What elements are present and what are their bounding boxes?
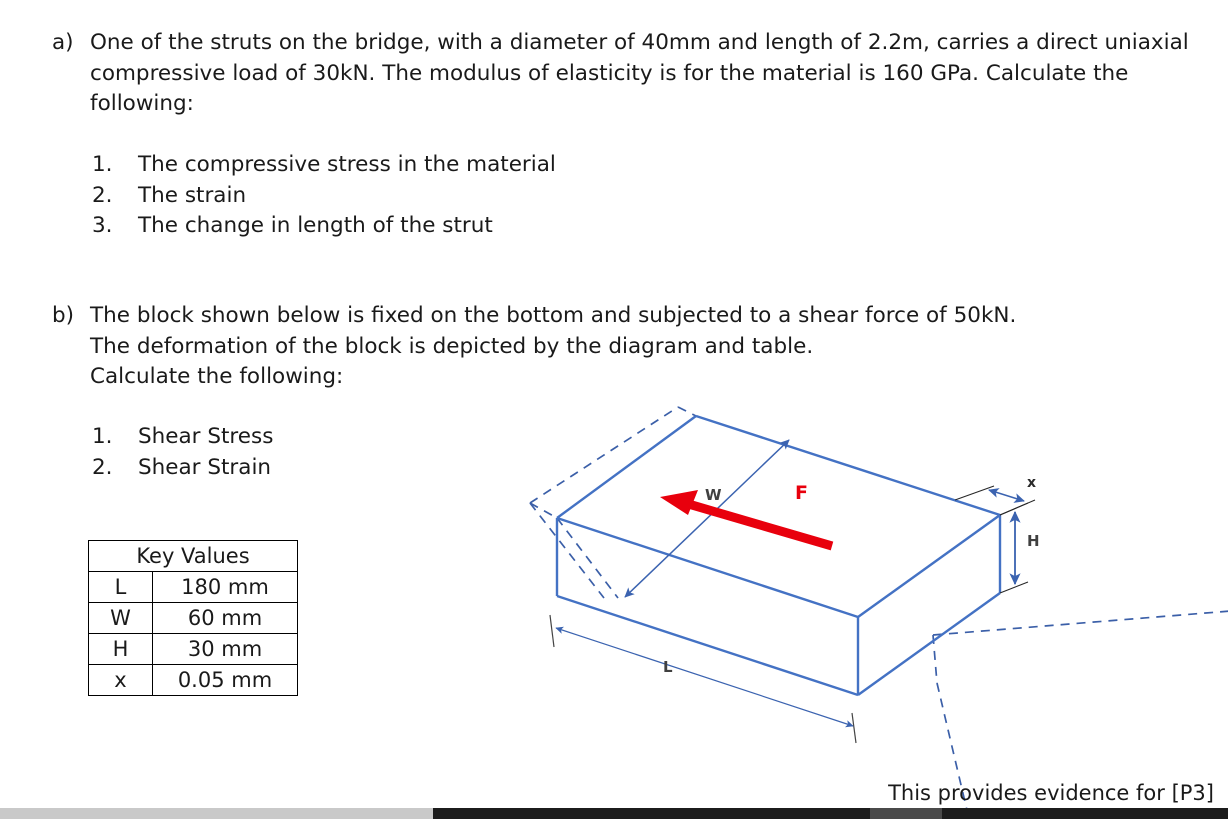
dimension-x-arrow xyxy=(989,490,1024,501)
bottom-os-strip xyxy=(0,808,1228,819)
dashed-hidden-back-top xyxy=(933,598,1228,635)
dashed-top-left-short xyxy=(530,503,557,518)
question-a-block: a) One of the struts on the bridge, with… xyxy=(44,28,1214,120)
dimension-l-label: L xyxy=(663,658,673,676)
table-cell-value: 180 mm xyxy=(153,572,298,603)
dimension-x: x xyxy=(955,475,1036,515)
dimension-h-label: H xyxy=(1027,532,1040,550)
question-b-paragraph-line-2: The deformation of the block is depicted… xyxy=(90,332,1016,363)
undeformed-outline-dashed xyxy=(530,407,1228,819)
table-cell-value: 0.05 mm xyxy=(153,665,298,696)
list-item-label: The compressive stress in the material xyxy=(138,150,556,181)
table-row: x 0.05 mm xyxy=(89,665,298,696)
table-cell-symbol: L xyxy=(89,572,153,603)
block-solid-outline xyxy=(557,416,1000,617)
question-b-sublist: 1. Shear Stress 2. Shear Strain xyxy=(92,422,273,483)
dimension-x-extension-left xyxy=(955,486,994,500)
list-item-number: 1. xyxy=(92,422,138,453)
list-item-number: 3. xyxy=(92,211,138,242)
top-edge-right-front xyxy=(858,515,1000,617)
list-item-number: 2. xyxy=(92,181,138,212)
list-item-label: The strain xyxy=(138,181,246,212)
dimension-l-extension-left xyxy=(550,615,554,647)
dimension-l-arrow xyxy=(556,628,853,726)
question-b-body: The block shown below is fixed on the bo… xyxy=(90,301,1016,393)
dimension-x-extension-right xyxy=(1000,500,1035,515)
block-side-faces xyxy=(557,515,1000,695)
dimension-l-extension-right xyxy=(852,713,856,743)
os-strip-segment-dark xyxy=(433,808,870,819)
list-item: 1. Shear Stress xyxy=(92,422,273,453)
os-strip-segment-light xyxy=(0,808,433,819)
list-item: 3. The change in length of the strut xyxy=(92,211,556,242)
question-b-paragraph-line-1: The block shown below is fixed on the bo… xyxy=(90,301,1016,332)
bottom-front-left-edge xyxy=(557,596,858,695)
list-item: 2. Shear Strain xyxy=(92,453,273,484)
dimension-h: H xyxy=(1000,503,1040,593)
document-page: a) One of the struts on the bridge, with… xyxy=(0,0,1228,819)
evidence-note: This provides evidence for [P3] xyxy=(888,780,1214,806)
question-b-marker: b) xyxy=(44,301,90,332)
table-title: Key Values xyxy=(89,541,298,572)
shear-block-diagram: W L H x xyxy=(500,385,1060,745)
force-arrow-head xyxy=(660,490,698,515)
top-edge-back-right xyxy=(696,416,1000,515)
key-values-table: Key Values L 180 mm W 60 mm H 30 mm x 0.… xyxy=(88,540,298,696)
dimension-w-arrow xyxy=(625,440,789,597)
dimension-w-label: W xyxy=(705,486,722,504)
bottom-front-right-edge xyxy=(858,593,1000,695)
table-cell-value: 60 mm xyxy=(153,603,298,634)
list-item: 1. The compressive stress in the materia… xyxy=(92,150,556,181)
dimension-w: W xyxy=(625,440,789,597)
list-item-number: 1. xyxy=(92,150,138,181)
table-row: H 30 mm xyxy=(89,634,298,665)
list-item-label: Shear Strain xyxy=(138,453,271,484)
question-a-marker: a) xyxy=(44,28,90,59)
os-strip-segment-mid xyxy=(870,808,942,819)
question-a-paragraph: One of the struts on the bridge, with a … xyxy=(90,28,1214,120)
table-cell-symbol: W xyxy=(89,603,153,634)
dashed-left-shear-edge xyxy=(530,503,604,598)
dimension-h-extension-bottom xyxy=(1000,582,1028,593)
list-item: 2. The strain xyxy=(92,181,556,212)
list-item-number: 2. xyxy=(92,453,138,484)
question-a-sublist: 1. The compressive stress in the materia… xyxy=(92,150,556,242)
top-edge-front-left xyxy=(557,518,858,617)
table-cell-symbol: H xyxy=(89,634,153,665)
dashed-hidden-corner xyxy=(933,635,937,683)
table-cell-value: 30 mm xyxy=(153,634,298,665)
dashed-top-back-left-edge xyxy=(530,407,678,503)
force-label: F xyxy=(795,482,808,504)
os-strip-segment-dark-right xyxy=(942,808,1228,819)
table-row: W 60 mm xyxy=(89,603,298,634)
list-item-label: Shear Stress xyxy=(138,422,273,453)
dashed-left-shear-edge-2 xyxy=(557,518,618,598)
table-header-row: Key Values xyxy=(89,541,298,572)
dimension-x-label: x xyxy=(1027,475,1036,491)
force-arrow-shaft xyxy=(685,503,832,546)
shear-block-svg: W L H x xyxy=(500,385,1060,745)
table-cell-symbol: x xyxy=(89,665,153,696)
list-item-label: The change in length of the strut xyxy=(138,211,493,242)
question-a-body: One of the struts on the bridge, with a … xyxy=(90,28,1214,120)
table-row: L 180 mm xyxy=(89,572,298,603)
question-b-block: b) The block shown below is fixed on the… xyxy=(44,301,1214,393)
dashed-top-back-short xyxy=(678,407,696,416)
